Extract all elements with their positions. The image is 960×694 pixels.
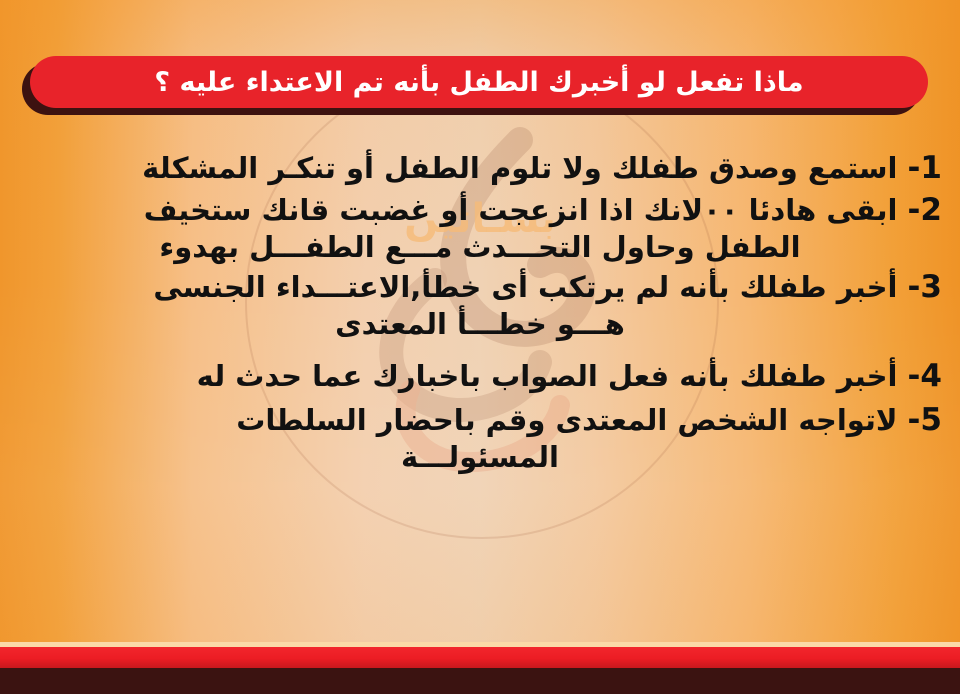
list-item-text: ابقى هادئا ٠٠لانك اذا انزعجت أو غضبت قان… — [144, 193, 898, 227]
list-item-number: 5- — [908, 402, 942, 438]
list-item-text: هـــو خطـــأ المعتدى — [18, 307, 942, 342]
title-banner-pill: ماذا تفعل لو أخبرك الطفل بأنه تم الاعتدا… — [30, 56, 928, 108]
list-item-number: 4- — [908, 358, 942, 394]
list-item-text: استمع وصدق طفلك ولا تلوم الطفل أو تنكـر … — [142, 151, 897, 185]
list-item-text: أخبر طفلك بأنه لم يرتكب أى خطأ,الاعتـــد… — [153, 270, 897, 304]
list-item: 1- استمع وصدق طفلك ولا تلوم الطفل أو تنك… — [18, 150, 942, 188]
bottom-red-stripe — [0, 647, 960, 668]
page-title: ماذا تفعل لو أخبرك الطفل بأنه تم الاعتدا… — [154, 69, 803, 96]
list-item-text: الطفل وحاول التحـــدث مـــع الطفـــل بهد… — [18, 230, 942, 265]
title-banner: ماذا تفعل لو أخبرك الطفل بأنه تم الاعتدا… — [30, 56, 928, 108]
list-item-text: المسئولـــة — [18, 440, 942, 475]
list-item-number: 3- — [908, 269, 942, 305]
list-item: 3- أخبر طفلك بأنه لم يرتكب أى خطأ,الاعتـ… — [18, 269, 942, 342]
list-item-text: لاتواجه الشخص المعتدى وقم باحضار السلطات — [236, 403, 897, 437]
list-item-number: 1- — [908, 150, 942, 186]
list-item-text: أخبر طفلك بأنه فعل الصواب باخبارك عما حد… — [197, 359, 898, 393]
list-item-number: 2- — [908, 192, 942, 228]
bottom-dark-stripe — [0, 668, 960, 694]
poster-canvas: بسـاتين ماذا تفعل لو أخبرك الطفل بأنه تم… — [0, 0, 960, 694]
list-item: 2- ابقى هادئا ٠٠لانك اذا انزعجت أو غضبت … — [18, 192, 942, 265]
advice-list: 1- استمع وصدق طفلك ولا تلوم الطفل أو تنك… — [18, 150, 942, 477]
list-item: 5- لاتواجه الشخص المعتدى وقم باحضار السل… — [18, 402, 942, 475]
list-item: 4- أخبر طفلك بأنه فعل الصواب باخبارك عما… — [18, 358, 942, 396]
